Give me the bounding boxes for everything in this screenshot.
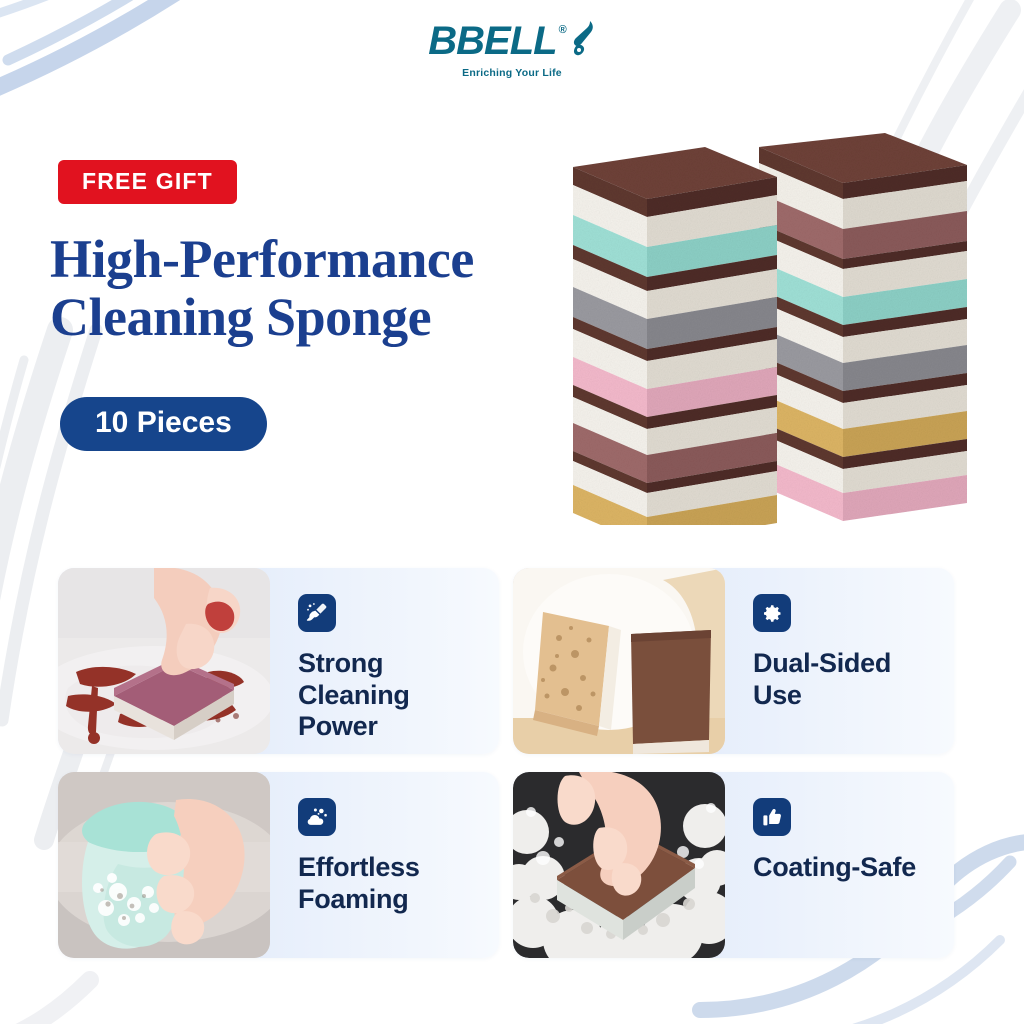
feature-photo-coating-safe <box>513 772 725 958</box>
gear-icon <box>753 594 791 632</box>
logo-wordmark: BBELL <box>428 21 556 61</box>
feature-body-dual-sided-use: Dual-Sided Use <box>725 568 954 754</box>
page-title: High-Performance Cleaning Sponge <box>50 230 474 347</box>
logo[interactable]: BBELL ® Enriching Your Life <box>428 21 595 79</box>
feature-title: Dual-Sided Use <box>753 648 954 711</box>
hero-section: FREE GIFT High-Performance Cleaning Spon… <box>0 100 1024 560</box>
sponge-stack-left <box>573 147 777 525</box>
headline-line-1: High-Performance <box>50 229 474 289</box>
feature-body-effortless-foaming: Effortless Foaming <box>270 772 499 958</box>
brand-header: BBELL ® Enriching Your Life <box>0 0 1024 100</box>
feature-body-strong-cleaning-power: Strong Cleaning Power <box>270 568 499 754</box>
foam-bubbles-icon <box>298 798 336 836</box>
hero-product-image <box>555 125 985 525</box>
feature-body-coating-safe: Coating-Safe <box>725 772 954 958</box>
feature-photo-strong-cleaning-power <box>58 568 270 754</box>
free-gift-badge: FREE GIFT <box>58 160 237 204</box>
feature-card-effortless-foaming[interactable]: Effortless Foaming <box>58 772 499 958</box>
feature-photo-effortless-foaming <box>58 772 270 958</box>
registered-trademark-icon: ® <box>559 24 567 36</box>
product-promo-page: BBELL ® Enriching Your Life FREE GIFT Hi… <box>0 0 1024 1024</box>
sponge-stack-right <box>759 133 967 521</box>
feature-title: Strong Cleaning Power <box>298 648 499 743</box>
feature-title: Effortless Foaming <box>298 852 499 915</box>
broom-sparkle-icon <box>298 594 336 632</box>
brush-mark-icon <box>570 19 596 64</box>
feature-card-dual-sided-use[interactable]: Dual-Sided Use <box>513 568 954 754</box>
feature-card-grid: Strong Cleaning Power <box>58 568 966 962</box>
feature-card-strong-cleaning-power[interactable]: Strong Cleaning Power <box>58 568 499 754</box>
brush-stroke-bottom-left <box>0 980 90 1024</box>
headline-line-2: Cleaning Sponge <box>50 288 474 346</box>
feature-card-coating-safe[interactable]: Coating-Safe <box>513 772 954 958</box>
feature-photo-dual-sided-use <box>513 568 725 754</box>
feature-title: Coating-Safe <box>753 852 954 884</box>
quantity-badge: 10 Pieces <box>60 397 267 451</box>
thumbs-up-icon <box>753 798 791 836</box>
logo-tagline: Enriching Your Life <box>462 67 562 79</box>
